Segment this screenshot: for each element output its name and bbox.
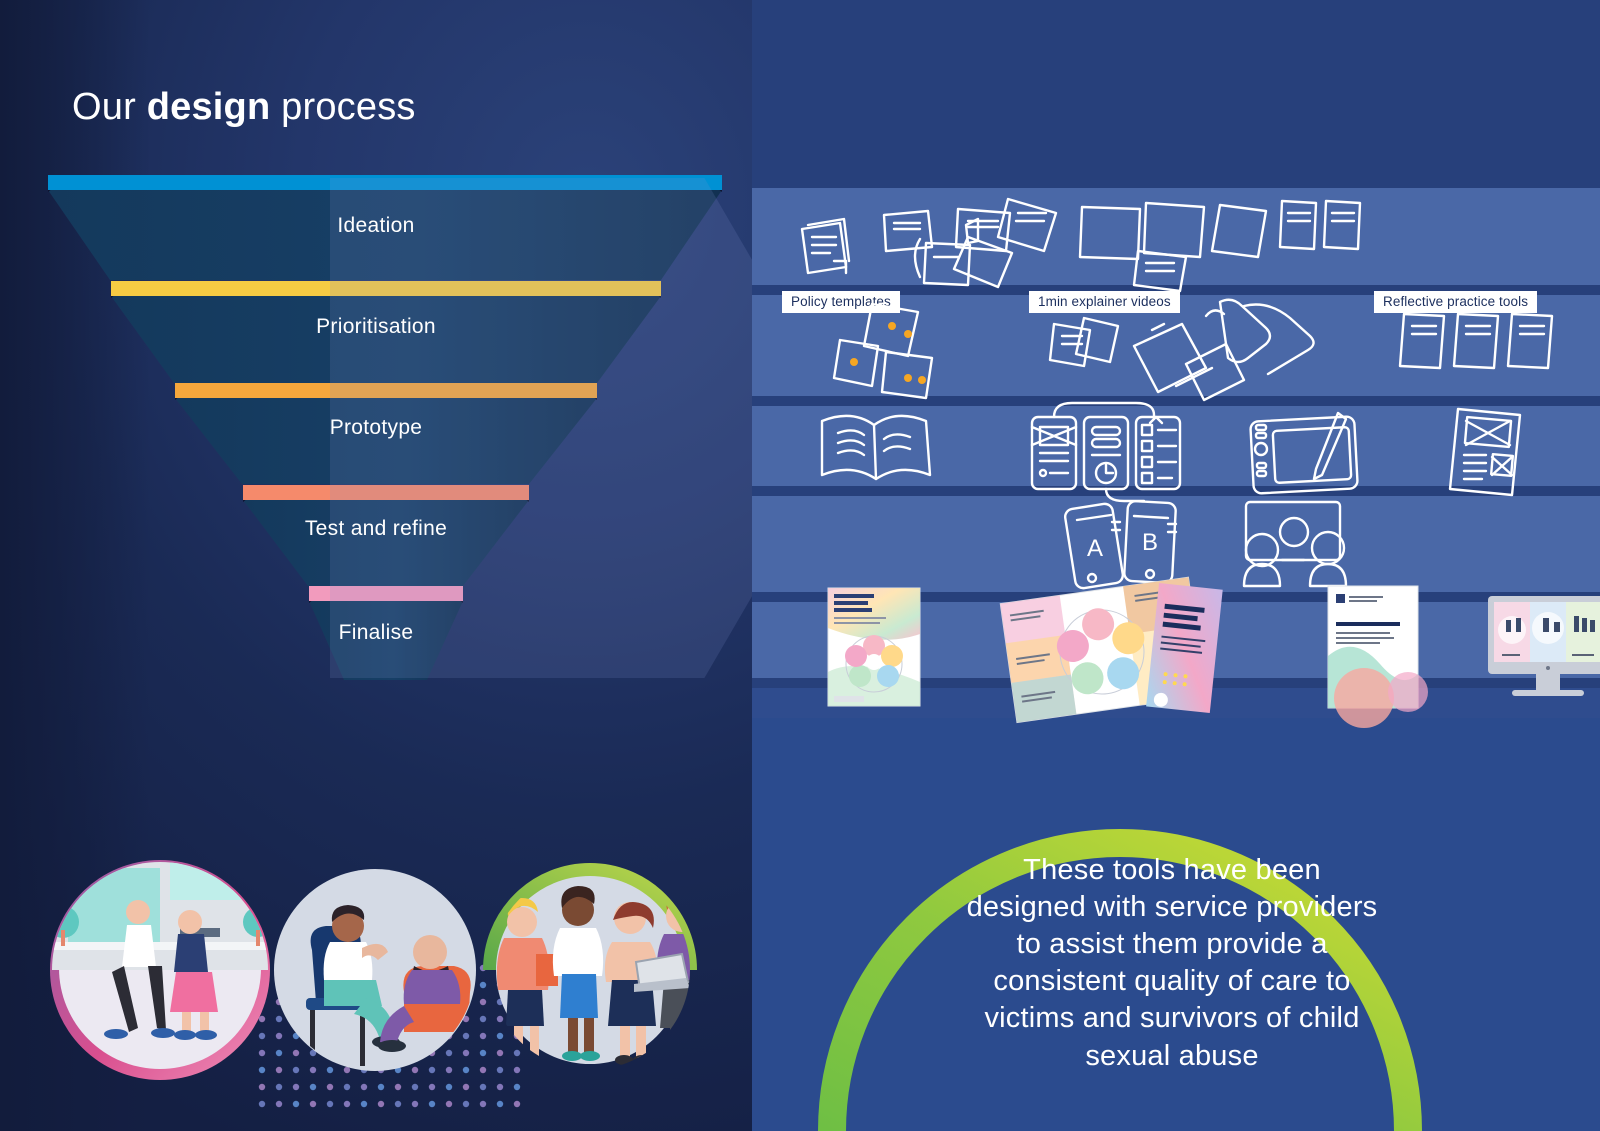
key-message: These tools have been designed with serv… xyxy=(932,852,1412,1075)
slide-canvas: Our design process xyxy=(0,0,1600,1131)
desktop-website-mockup xyxy=(1488,596,1600,696)
minimum-practice-standards-poster xyxy=(828,588,920,706)
message-line: designed with service providers xyxy=(932,889,1412,926)
stripe xyxy=(752,0,1600,188)
message-line: These tools have been xyxy=(932,852,1412,889)
dot-voting-notes-icon xyxy=(834,304,932,398)
funnel-band-test-refine xyxy=(243,485,529,500)
funnel-label-finalise: Finalise xyxy=(0,621,752,645)
hand-placing-note-icon xyxy=(1134,300,1314,400)
funnel-label-prioritisation: Prioritisation xyxy=(0,315,752,339)
aged-care-entrance-illustration xyxy=(47,850,275,1080)
minimum-practice-standards-brochure xyxy=(1146,583,1223,713)
message-line: consistent quality of care to xyxy=(932,963,1412,1000)
wireframe-screens-icon xyxy=(1032,403,1180,501)
web-layout-wireframe-icon xyxy=(1450,409,1520,495)
message-line: sexual abuse xyxy=(932,1038,1412,1075)
open-book-icon xyxy=(822,416,930,479)
funnel-band-finalise xyxy=(309,586,463,601)
funnel-body-test-refine xyxy=(243,500,529,586)
funnel-band-prototype xyxy=(175,383,597,398)
left-panel: Our design process xyxy=(0,0,752,1131)
funnel-label-prototype: Prototype xyxy=(0,416,752,440)
prototype-sketch-row xyxy=(782,405,1600,500)
ab-label-b: B xyxy=(1142,529,1158,556)
ab-label-a: A xyxy=(1087,535,1103,562)
note-cards-icon xyxy=(1050,318,1118,366)
funnel-band-ideation xyxy=(48,175,722,190)
message-line: victims and survivors of child xyxy=(932,1000,1412,1037)
artifacts-row xyxy=(812,572,1600,722)
blank-cards-icon xyxy=(1080,203,1204,291)
prioritisation-sketch-row xyxy=(782,300,1600,400)
funnel-band-prioritisation xyxy=(111,281,661,296)
counselling-session-illustration xyxy=(274,869,476,1071)
hand-placing-note-icon xyxy=(954,219,1012,287)
ideation-sketch-row xyxy=(782,195,1600,295)
service-providers-group-illustration xyxy=(490,870,710,1065)
document-pair-icon xyxy=(1280,201,1360,249)
funnel-body-prototype xyxy=(175,398,597,484)
drawing-tablet-stylus-icon xyxy=(1250,413,1358,494)
design-process-funnel xyxy=(0,0,752,720)
funnel-label-test-refine: Test and refine xyxy=(0,517,752,541)
message-line: to assist them provide a xyxy=(932,926,1412,963)
funnel-body-prioritisation xyxy=(111,296,661,383)
illustration-cluster xyxy=(30,830,730,1110)
tilted-card-icon xyxy=(1212,205,1266,257)
reflective-sheets-icon xyxy=(1400,314,1552,368)
stacked-papers-icon xyxy=(802,219,849,273)
reflective-practice-journal-cover xyxy=(1328,586,1428,728)
funnel-label-ideation: Ideation xyxy=(0,214,752,238)
